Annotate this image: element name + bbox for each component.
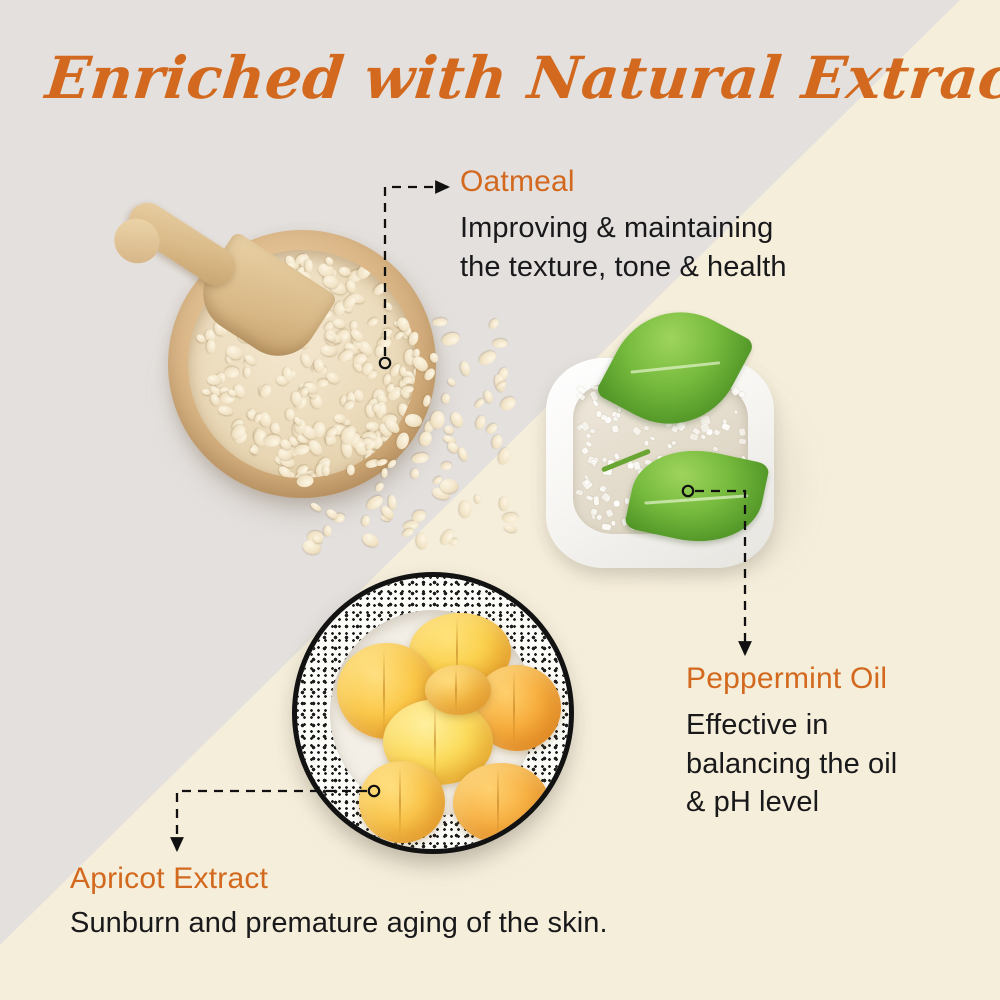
oat-flake xyxy=(477,349,498,368)
salt-grain xyxy=(586,494,594,500)
oat-flake xyxy=(411,468,420,479)
oat-flake xyxy=(297,474,315,488)
oat-flake xyxy=(459,360,471,377)
salt-grain xyxy=(618,407,622,412)
oat-flake xyxy=(333,413,346,424)
oat-flake xyxy=(483,390,494,405)
salt-grain xyxy=(602,457,607,463)
apricot-fruit xyxy=(359,761,445,843)
oat-flake xyxy=(407,331,420,347)
apricot-callout: Apricot Extract Sunburn and premature ag… xyxy=(70,862,770,943)
oat-flakes-spilled xyxy=(110,195,510,555)
salt-grain xyxy=(633,461,641,471)
salt-grain xyxy=(612,425,619,433)
oat-flake xyxy=(430,410,446,429)
dotted-ceramic-bowl xyxy=(292,572,574,854)
oat-flake xyxy=(374,344,385,358)
oat-flake xyxy=(484,422,498,436)
salt-grain xyxy=(701,433,707,439)
oat-flake xyxy=(349,328,365,344)
oat-flake xyxy=(456,446,469,462)
oat-flake xyxy=(498,497,508,511)
peppermint-description-line-1: Effective in xyxy=(686,709,829,741)
apricot-photo xyxy=(268,560,594,882)
oatmeal-description: Improving & maintaining the texture, ton… xyxy=(460,209,890,286)
salt-grain xyxy=(601,414,607,420)
poster-canvas: Enriched with Natural Extract xyxy=(0,0,1000,1000)
oatmeal-description-line-1: Improving & maintaining xyxy=(460,212,773,244)
salt-grain xyxy=(585,433,591,439)
oat-flake xyxy=(395,316,412,334)
salt-grain xyxy=(593,496,599,505)
oat-flake xyxy=(474,495,482,505)
oat-flake xyxy=(363,438,373,445)
peppermint-heading: Peppermint Oil xyxy=(686,662,986,696)
salt-grain xyxy=(738,438,746,444)
salt-grain xyxy=(721,422,731,430)
oat-flake xyxy=(309,501,322,513)
oat-flake xyxy=(323,525,332,537)
oat-flake xyxy=(381,329,391,335)
salt-grain xyxy=(599,484,607,492)
salt-grain xyxy=(671,440,676,445)
oat-flake xyxy=(404,412,423,428)
salt-grain xyxy=(713,429,721,436)
oat-flake xyxy=(429,352,440,365)
salt-grain xyxy=(585,440,592,446)
oat-flake xyxy=(373,403,381,413)
page-title: Enriched with Natural Extract xyxy=(43,48,1000,109)
salt-grain xyxy=(581,447,589,456)
apricot-fruit xyxy=(425,665,491,715)
apricot-fruit xyxy=(453,763,549,843)
oat-flake xyxy=(394,431,411,451)
oatmeal-callout: Oatmeal Improving & maintaining the text… xyxy=(460,165,890,286)
oat-flake xyxy=(382,468,388,478)
salt-grain xyxy=(735,410,738,415)
oatmeal-photo xyxy=(110,195,510,555)
oat-flake xyxy=(352,352,369,367)
peppermint-callout: Peppermint Oil Effective in balancing th… xyxy=(686,662,986,822)
salt-grain xyxy=(650,436,656,441)
oat-flake xyxy=(386,458,397,469)
salt-grain xyxy=(614,453,620,460)
salt-grain xyxy=(590,428,596,434)
oat-flake xyxy=(418,430,433,448)
peppermint-photo xyxy=(528,300,838,600)
oat-flake xyxy=(442,424,455,436)
oat-flake xyxy=(325,333,337,342)
oatmeal-description-line-2: the texture, tone & health xyxy=(460,251,787,283)
oat-flake xyxy=(401,385,413,393)
salt-grain xyxy=(605,509,613,518)
oat-flake xyxy=(433,318,448,327)
salt-grain xyxy=(712,446,718,451)
oat-flake xyxy=(473,397,485,409)
apricot-heading: Apricot Extract xyxy=(70,862,770,896)
salt-grain xyxy=(644,426,649,431)
oat-flake xyxy=(383,416,402,435)
oat-flake xyxy=(474,414,487,430)
salt-grain xyxy=(611,521,615,526)
oat-flake xyxy=(488,318,501,331)
oat-flake xyxy=(422,394,432,407)
peppermint-description-line-2: balancing the oil xyxy=(686,748,897,780)
salt-grain xyxy=(644,440,649,445)
oat-flake xyxy=(446,376,457,387)
oat-flake xyxy=(441,461,452,470)
oat-flake xyxy=(491,434,504,450)
salt-grain xyxy=(616,412,621,417)
oat-flake xyxy=(441,331,462,348)
peppermint-description-line-3: & pH level xyxy=(686,786,819,818)
oat-flake xyxy=(411,452,429,465)
oat-flake xyxy=(393,331,405,342)
oat-flake xyxy=(439,479,457,494)
salt-grain xyxy=(738,428,745,436)
salt-grain xyxy=(700,422,711,433)
oat-flake xyxy=(401,375,413,384)
salt-grain xyxy=(632,426,642,436)
oat-flake xyxy=(415,532,427,550)
leaf-vein xyxy=(631,361,720,373)
oatmeal-heading: Oatmeal xyxy=(460,165,890,199)
apricot-description: Sunburn and premature aging of the skin. xyxy=(70,904,770,943)
oat-flake xyxy=(332,318,347,330)
oat-flake xyxy=(493,339,508,348)
salt-grain xyxy=(602,523,612,530)
salt-grain xyxy=(596,514,603,521)
salt-grain xyxy=(576,489,584,496)
oat-flake xyxy=(360,531,380,549)
oat-flake xyxy=(459,501,471,518)
oat-flake xyxy=(361,515,371,528)
oat-flake xyxy=(346,465,355,477)
leaf-vein xyxy=(644,494,748,504)
oat-flake xyxy=(374,481,385,493)
salt-grain xyxy=(600,492,611,503)
oat-flake xyxy=(322,465,329,476)
salt-grain xyxy=(590,514,595,519)
peppermint-description: Effective in balancing the oil & pH leve… xyxy=(686,706,986,822)
oat-flake xyxy=(442,393,451,404)
